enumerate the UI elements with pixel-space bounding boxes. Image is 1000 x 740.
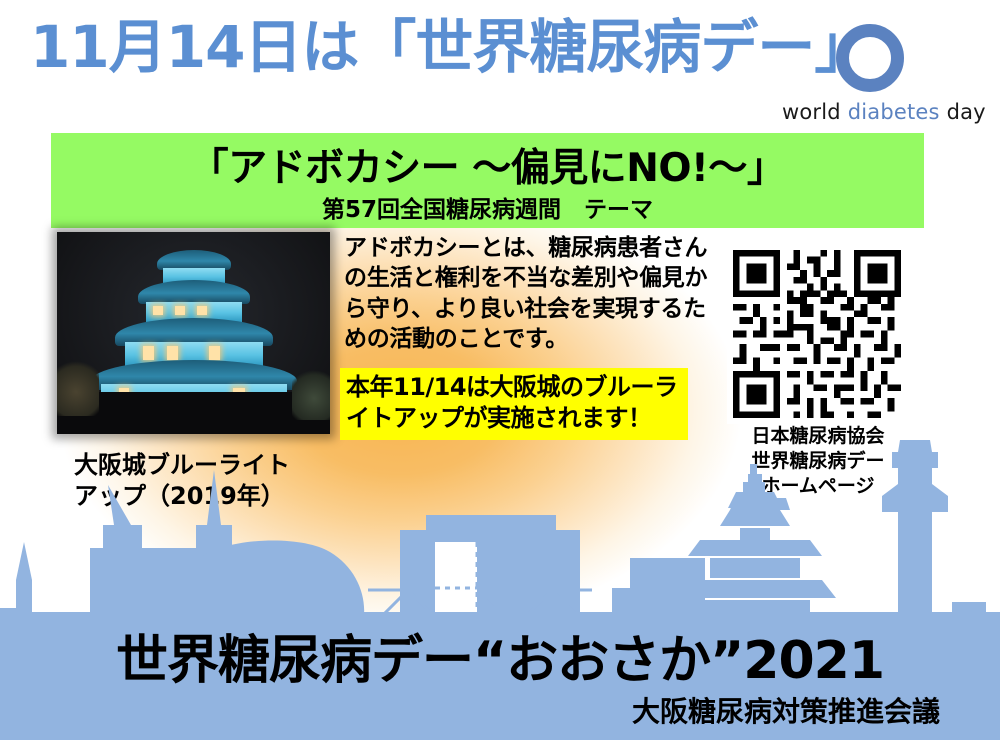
qr-code[interactable] bbox=[727, 244, 907, 424]
osaka-castle-photo bbox=[57, 232, 330, 434]
poster-canvas: 11月14日は「世界糖尿病デー」 world diabetes day 「アドボ… bbox=[0, 0, 1000, 740]
description-text: アドボカシーとは、糖尿病患者さんの生活と権利を不当な差別や偏見から守り、より良い… bbox=[344, 233, 714, 354]
theme-banner-subtitle: 第57回全国糖尿病週間 テーマ bbox=[51, 190, 924, 224]
page-title: 11月14日は「世界糖尿病デー」 bbox=[30, 18, 871, 76]
footer-organization: 大阪糖尿病対策推進会議 bbox=[632, 690, 940, 730]
wordmark-diabetes: diabetes bbox=[848, 100, 940, 124]
world-diabetes-day-circle-icon bbox=[836, 24, 906, 94]
world-diabetes-day-wordmark: world diabetes day bbox=[782, 100, 986, 124]
footer-title: 世界糖尿病デー“おおさか”2021 bbox=[0, 618, 1000, 693]
wordmark-world: world bbox=[782, 100, 848, 124]
wordmark-day: day bbox=[940, 100, 986, 124]
theme-banner-title: 「アドボカシー ～偏見にNO!～」 bbox=[51, 137, 924, 193]
theme-banner: 「アドボカシー ～偏見にNO!～」 第57回全国糖尿病週間 テーマ bbox=[51, 133, 924, 228]
